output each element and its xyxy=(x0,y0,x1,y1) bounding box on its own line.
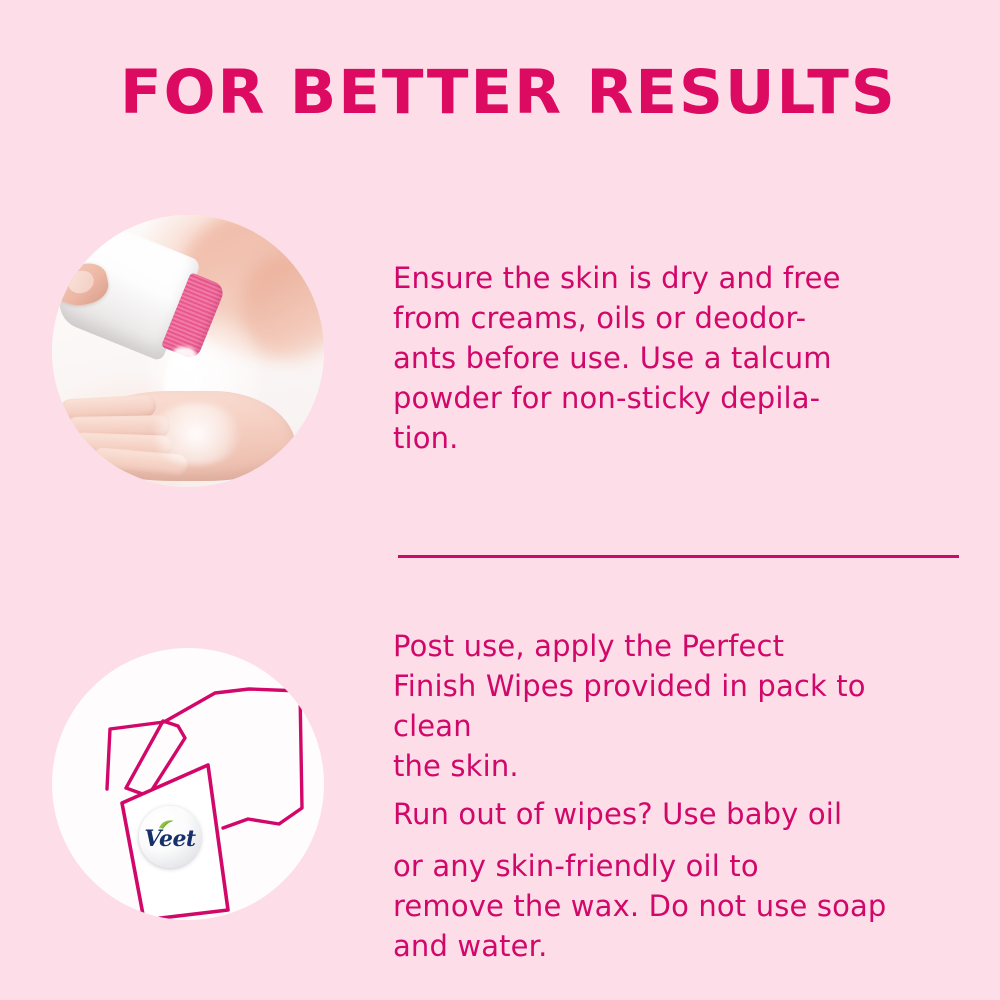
page-title: FOR BETTER RESULTS xyxy=(120,62,920,123)
wipes-alternative-question-text: Run out of wipes? Use baby oil xyxy=(393,794,963,834)
poster-root: FOR BETTER RESULTS Ensure the skin is dr… xyxy=(0,0,1000,1000)
talcum-powder-photo xyxy=(52,215,324,487)
wipes-alternative-detail-text: or any skin-friendly oil to remove the w… xyxy=(393,846,983,966)
section-divider xyxy=(398,555,959,558)
leaf-icon xyxy=(158,820,174,829)
post-use-instructions-text: Post use, apply the Perfect Finish Wipes… xyxy=(393,626,963,786)
powder-in-palm xyxy=(148,403,244,465)
perfect-finish-wipes-illustration: Veet xyxy=(52,648,324,920)
prep-instructions-text: Ensure the skin is dry and free from cre… xyxy=(393,258,963,458)
veet-logo-badge: Veet xyxy=(139,806,201,868)
talc-scene xyxy=(52,215,324,487)
veet-wordmark: Veet xyxy=(144,828,195,850)
wipes-line-art-icon xyxy=(52,648,324,920)
